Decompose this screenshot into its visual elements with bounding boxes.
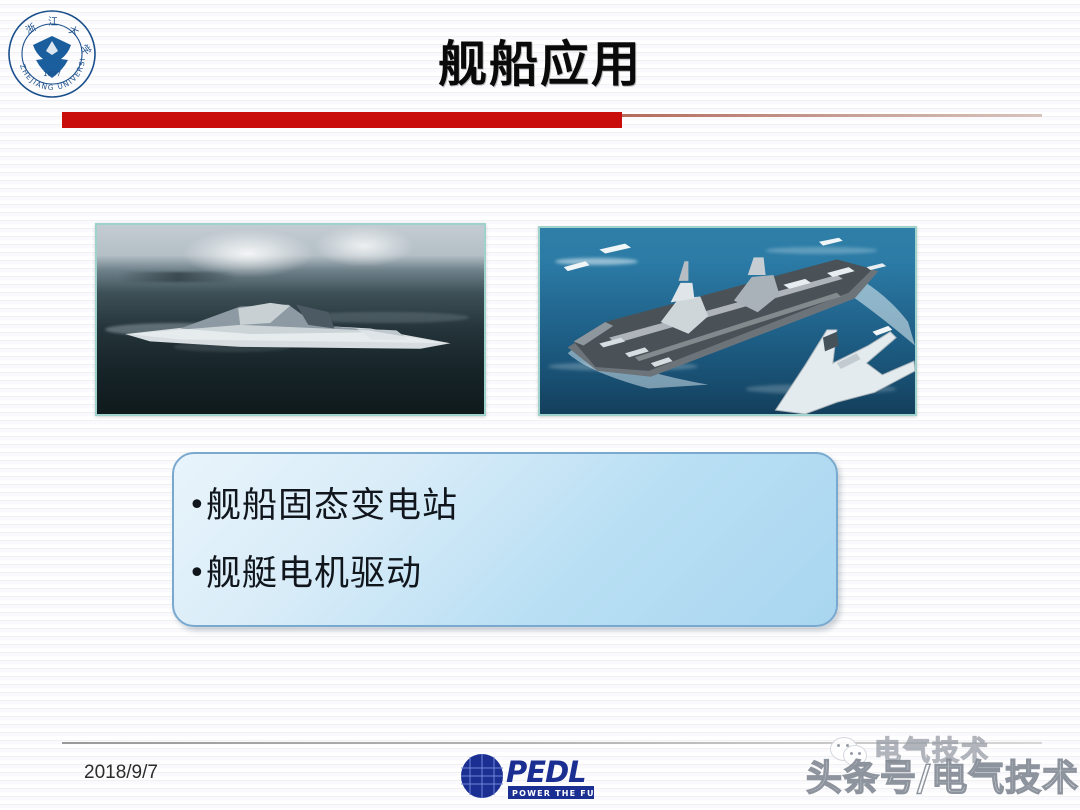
content-callout-box: • 舰船固态变电站 • 舰艇电机驱动	[172, 452, 838, 627]
bullet-marker-icon: •	[188, 554, 202, 594]
bullet-marker-icon: •	[188, 486, 202, 526]
svg-text:江: 江	[48, 16, 58, 28]
destroyer-hull	[120, 301, 461, 365]
carrier-vessel	[540, 228, 915, 414]
bullet-text: 舰艇电机驱动	[206, 554, 422, 594]
bullet-item: • 舰艇电机驱动	[188, 554, 836, 594]
pedl-logo: PEDL POWER THE FUTURE	[458, 752, 598, 804]
aircraft-carrier-photo	[538, 226, 917, 416]
svg-text:PEDL: PEDL	[506, 755, 586, 789]
destroyer-sky-glow-right	[314, 225, 415, 267]
footer-divider	[62, 742, 1042, 744]
watermark-bottom-text: 头条号/电气技术	[806, 757, 1079, 801]
watermark: 电气技术 头条号/电气技术	[806, 737, 1076, 807]
destroyer-sky-glow-left	[182, 229, 314, 278]
footer-date: 2018/9/7	[84, 762, 158, 784]
bullet-text: 舰船固态变电站	[206, 486, 458, 526]
title-underline-thin	[622, 114, 1042, 117]
slide-canvas: 1897 ZHEJIANG UNIVERSITY 浙 江 大 学 舰船应用	[0, 0, 1080, 810]
title-underline	[62, 112, 1042, 130]
svg-text:POWER THE FUTURE: POWER THE FUTURE	[512, 789, 598, 798]
bullet-item: • 舰船固态变电站	[188, 486, 836, 526]
slide-title: 舰船应用	[0, 34, 1080, 96]
stealth-destroyer-photo	[95, 223, 486, 416]
destroyer-horizon-land	[120, 272, 236, 281]
title-underline-thick	[62, 112, 622, 128]
